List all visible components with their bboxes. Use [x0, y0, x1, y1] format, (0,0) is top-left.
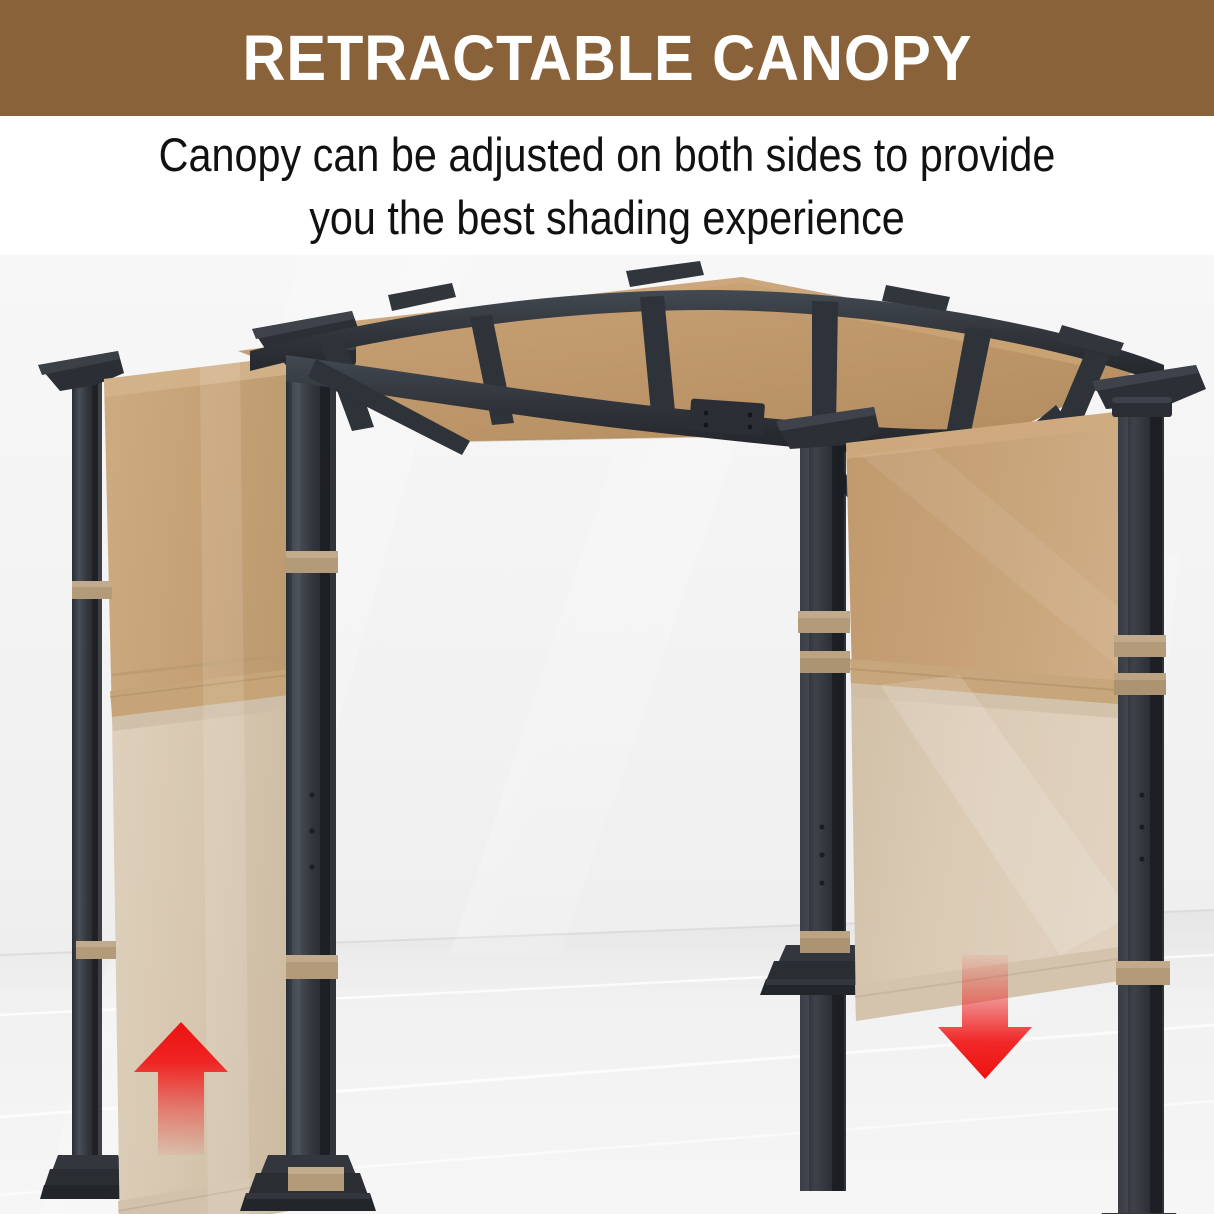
page-title: RETRACTABLE CANOPY: [242, 26, 972, 90]
product-image: [0, 255, 1214, 1214]
infographic-page: RETRACTABLE CANOPY Canopy can be adjuste…: [0, 0, 1214, 1214]
subtitle-block: Canopy can be adjusted on both sides to …: [0, 124, 1214, 250]
subtitle-line-1: Canopy can be adjusted on both sides to …: [73, 124, 1141, 187]
subtitle-line-2: you the best shading experience: [73, 187, 1141, 250]
canopy-panel-right: [846, 411, 1132, 1021]
header-banner: RETRACTABLE CANOPY: [0, 0, 1214, 116]
canopy-panel-left: [104, 355, 313, 1214]
pergola-illustration: [0, 255, 1214, 1214]
